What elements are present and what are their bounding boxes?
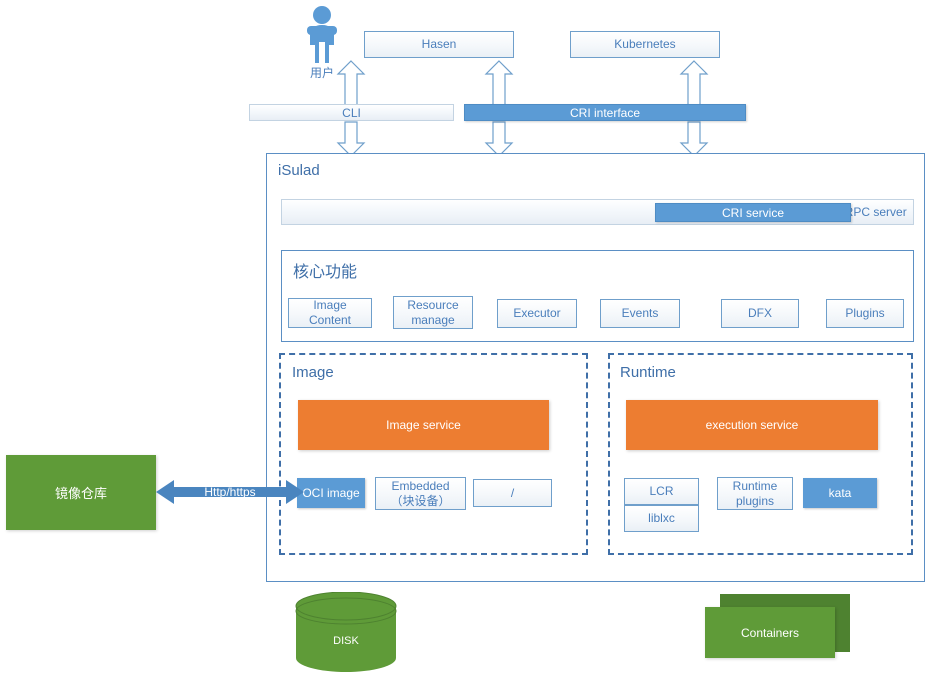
core-function-panel (281, 250, 914, 342)
runtime-plugins-label-line2: plugins (736, 494, 774, 509)
kata-box[interactable]: kata (803, 478, 877, 508)
liblxc-box[interactable]: liblxc (624, 505, 699, 532)
execution-service-box[interactable]: execution service (626, 400, 878, 450)
lcr-label: LCR (649, 484, 673, 499)
core-module-plugins[interactable]: Plugins (826, 299, 904, 328)
core-module-events[interactable]: Events (600, 299, 680, 328)
hasen-label: Hasen (422, 37, 457, 52)
oci-image-label: OCI image (302, 486, 359, 500)
core-module-label: Plugins (845, 306, 884, 321)
image-service-box[interactable]: Image service (298, 400, 549, 450)
core-module-label-line2: manage (411, 313, 454, 328)
image-service-label: Image service (386, 418, 461, 432)
kubernetes-label: Kubernetes (614, 37, 675, 52)
arrow-user-to-cli (336, 60, 366, 106)
core-module-dfx[interactable]: DFX (721, 299, 799, 328)
oci-image-box[interactable]: OCI image (297, 478, 365, 508)
core-module-label-line1: Image (313, 298, 346, 313)
isulad-title: iSulad (278, 162, 320, 179)
image-registry-box[interactable]: 镜像仓库 (6, 455, 156, 530)
core-module-label-line1: Resource (407, 298, 458, 313)
embedded-box[interactable]: Embedded （块设备） (375, 477, 466, 510)
liblxc-label: liblxc (648, 511, 675, 526)
core-module-label: DFX (748, 306, 772, 321)
runtime-plugins-box[interactable]: Runtime plugins (717, 477, 793, 510)
lcr-box[interactable]: LCR (624, 478, 699, 505)
arrow-cri-to-isulad-right (679, 121, 709, 157)
core-module-label: Executor (513, 306, 560, 321)
core-module-resource-manage[interactable]: Resource manage (393, 296, 473, 329)
arrow-hasen-to-cri (484, 60, 514, 106)
hasen-box[interactable]: Hasen (364, 31, 514, 58)
arrow-kubernetes-to-cri (679, 60, 709, 106)
user-person-icon (298, 4, 346, 64)
slash-box[interactable]: / (473, 479, 552, 507)
embedded-label-line1: Embedded (391, 479, 449, 494)
cri-interface-bar[interactable]: CRI interface (464, 104, 746, 121)
http-https-label: Http/https (180, 485, 280, 499)
containers-front-box[interactable]: Containers (705, 607, 835, 658)
core-module-image-content[interactable]: Image Content (288, 298, 372, 328)
arrow-cri-to-isulad-left (484, 121, 514, 157)
image-registry-label: 镜像仓库 (55, 483, 107, 502)
image-panel (279, 353, 588, 555)
disk-cylinder (293, 592, 399, 672)
core-function-title: 核心功能 (293, 258, 357, 282)
core-module-executor[interactable]: Executor (497, 299, 577, 328)
core-module-label: Events (622, 306, 659, 321)
cli-bar[interactable]: CLI (249, 104, 454, 121)
disk-label: DISK (293, 635, 399, 647)
image-panel-title: Image (292, 364, 334, 381)
cri-interface-label: CRI interface (465, 106, 745, 120)
runtime-plugins-label-line1: Runtime (733, 479, 778, 494)
cli-label: CLI (250, 106, 453, 120)
kata-label: kata (829, 486, 852, 500)
containers-label: Containers (741, 626, 799, 640)
embedded-label-line2: （块设备） (390, 494, 450, 509)
kubernetes-box[interactable]: Kubernetes (570, 31, 720, 58)
core-module-label-line2: Content (309, 313, 351, 328)
cri-service-box[interactable]: CRI service (655, 203, 851, 222)
slash-label: / (511, 486, 514, 501)
cri-service-label: CRI service (722, 206, 784, 220)
arrow-cli-to-isulad (336, 121, 366, 157)
execution-service-label: execution service (706, 418, 799, 432)
runtime-panel-title: Runtime (620, 364, 676, 381)
